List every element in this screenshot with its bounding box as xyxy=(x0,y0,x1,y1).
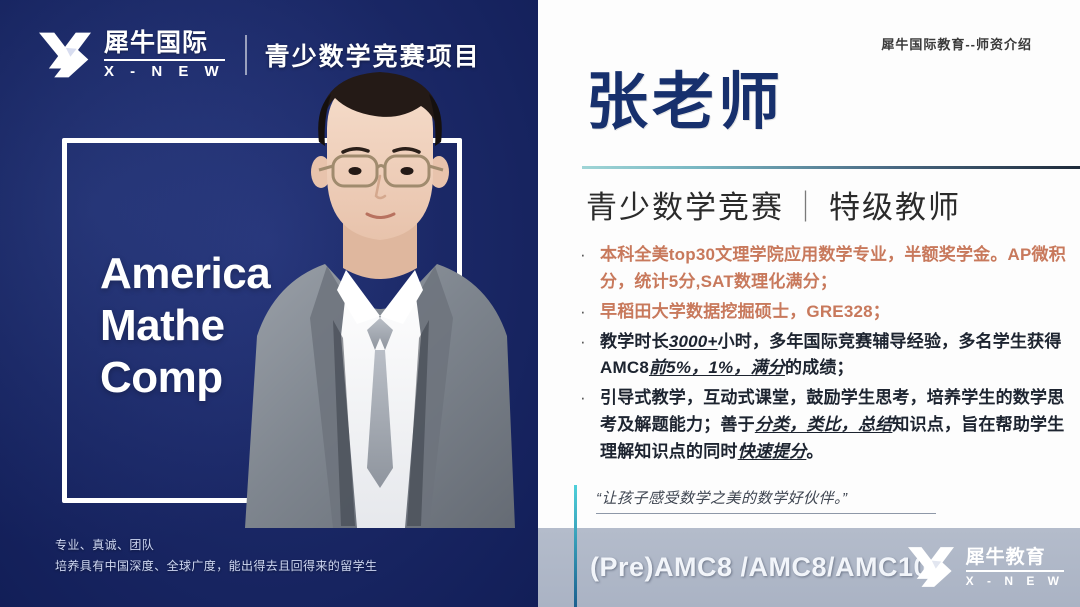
bullet-marker-icon: · xyxy=(580,299,600,326)
left-hero-panel: America Mathe Comp xyxy=(0,0,538,607)
brand-name-cn: 犀牛国际 xyxy=(104,31,225,56)
credential-item: ·早稻田大学数据挖掘硕士，GRE328； xyxy=(580,299,1080,326)
brand-divider-rule xyxy=(104,59,225,61)
credential-text: 教学时长3000+小时，多年国际竞赛辅导经验，多名学生获得AMC8前5%，1%，… xyxy=(600,329,1080,383)
credential-highlight: 前5%，1%，满分 xyxy=(649,358,785,377)
footer-brand-cn: 犀牛教育 xyxy=(966,548,1064,567)
credential-item: ·本科全美top30文理学院应用数学专业，半额奖学金。AP微积分，统计5分,SA… xyxy=(580,242,1080,296)
role-subject: 青少数学竞赛 xyxy=(586,190,784,225)
credential-text: 本科全美top30文理学院应用数学专业，半额奖学金。AP微积分，统计5分,SAT… xyxy=(600,242,1080,296)
credential-highlight: 3000+ xyxy=(669,332,718,351)
right-content-panel: 犀牛国际教育--师资介绍 张老师 青少数学竞赛｜特级教师 ·本科全美top30文… xyxy=(538,0,1080,607)
credential-text: 早稻田大学数据挖掘硕士，GRE328； xyxy=(600,299,1080,326)
course-list-label: (Pre)AMC8 /AMC8/AMC10 xyxy=(590,552,929,583)
bullet-marker-icon: · xyxy=(580,385,600,412)
footer-brand-text: 犀牛教育 X - N E W xyxy=(966,548,1064,587)
credential-list: ·本科全美top30文理学院应用数学专业，半额奖学金。AP微积分，统计5分,SA… xyxy=(580,242,1080,469)
role-subtitle: 青少数学竞赛｜特级教师 xyxy=(586,182,961,227)
brand-separator xyxy=(245,35,247,75)
company-slogan: 专业、真诚、团队 培养具有中国深度、全球广度，能出得去且回得来的留学生 xyxy=(55,535,377,577)
role-rank: 特级教师 xyxy=(829,190,961,225)
slogan-line-1: 专业、真诚、团队 xyxy=(55,535,377,556)
teacher-quote: “让孩子感受数学之美的数学好伙伴。” xyxy=(596,487,936,514)
credential-highlight: 快速提分 xyxy=(738,442,807,461)
credential-text: 引导式教学，互动式课堂，鼓励学生思考，培养学生的数学思考及解题能力；善于分类，类… xyxy=(600,385,1080,466)
credential-fragment: 教学时长 xyxy=(600,332,669,351)
credential-highlight: 分类，类比，总结 xyxy=(755,415,893,434)
brand-header[interactable]: 犀牛国际 X - N E W 青少数学竞赛项目 xyxy=(36,24,481,86)
credential-fragment: 。 xyxy=(806,442,823,461)
title-divider xyxy=(582,166,1080,169)
brand-name-en: X - N E W xyxy=(104,64,225,79)
credential-fragment: 本科全美top30文理学院应用数学专业，半额奖学金。AP微积分，统计5分,SAT… xyxy=(600,245,1066,291)
program-tagline: 青少数学竞赛项目 xyxy=(265,37,481,73)
role-separator: ｜ xyxy=(784,190,829,225)
teacher-portrait xyxy=(215,68,538,528)
page-kicker: 犀牛国际教育--师资介绍 xyxy=(881,34,1032,53)
bullet-marker-icon: · xyxy=(580,329,600,356)
credential-item: ·教学时长3000+小时，多年国际竞赛辅导经验，多名学生获得AMC8前5%，1%… xyxy=(580,329,1080,383)
x-new-logo-icon xyxy=(904,544,958,590)
x-new-logo-icon xyxy=(36,29,94,81)
bullet-marker-icon: · xyxy=(580,242,600,269)
teal-vertical-accent xyxy=(574,485,577,607)
footer-bar: (Pre)AMC8 /AMC8/AMC10 犀牛教育 X - N E W xyxy=(538,528,1080,607)
footer-brand-lockup[interactable]: 犀牛教育 X - N E W xyxy=(904,540,1064,594)
credential-fragment: 早稻田大学数据挖掘硕士，GRE328； xyxy=(600,302,890,321)
credential-item: ·引导式教学，互动式课堂，鼓励学生思考，培养学生的数学思考及解题能力；善于分类，… xyxy=(580,385,1080,466)
footer-brand-rule xyxy=(966,570,1064,572)
brand-lockup: 犀牛国际 X - N E W xyxy=(104,31,225,79)
slogan-line-2: 培养具有中国深度、全球广度，能出得去且回得来的留学生 xyxy=(55,556,377,577)
page-title: 张老师 xyxy=(586,72,784,134)
footer-brand-en: X - N E W xyxy=(966,575,1064,587)
slide-canvas: America Mathe Comp xyxy=(0,0,1080,607)
credential-fragment: 的成绩； xyxy=(785,358,854,377)
